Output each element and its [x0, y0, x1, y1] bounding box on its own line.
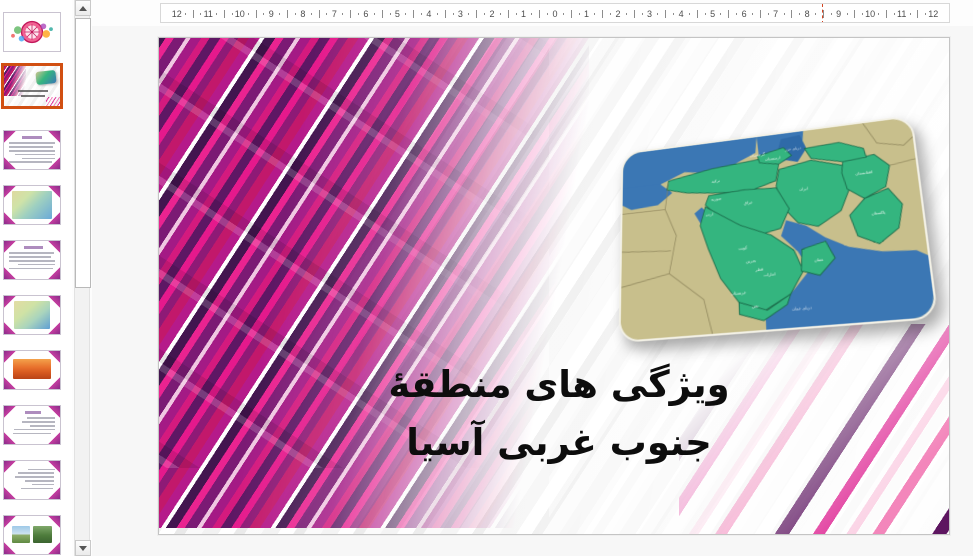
thumbnail-preview: [4, 13, 60, 51]
ruler-h-minor: [279, 13, 280, 15]
ruler-h-minor: [476, 10, 477, 18]
ruler-h-minor: [193, 10, 194, 18]
thumbnail-preview: [4, 296, 60, 334]
slide-thumbnail-10[interactable]: [3, 515, 61, 555]
ruler-h-tick-14: 2: [611, 4, 625, 23]
svg-text:اردن: اردن: [705, 211, 713, 217]
ruler-h-minor: [760, 10, 761, 18]
ruler-h-minor: [626, 13, 627, 15]
thumbnail-preview: [4, 66, 60, 106]
ruler-h-marker: [822, 4, 823, 23]
ruler-h-tick-7: 5: [390, 4, 404, 23]
ruler-h-tick-8: 4: [422, 4, 436, 23]
landscape-photo-thumbnail: [33, 526, 51, 543]
ruler-h-minor: [256, 10, 257, 18]
title-line-2: جنوب غربی آسیا: [279, 414, 839, 472]
slide-thumbnail-5[interactable]: [3, 240, 61, 280]
ruler-h-minor: [728, 10, 729, 18]
scroll-up-icon: [79, 6, 87, 11]
thumbnail-preview: [4, 461, 60, 499]
slide-thumbnail-8[interactable]: [3, 405, 61, 445]
thumbnail-preview: [4, 131, 60, 169]
ruler-h-minor: [216, 13, 217, 15]
ruler-h-tick-11: 1: [516, 4, 530, 23]
ruler-h-tick-23: 11: [895, 4, 909, 23]
ruler-h-minor: [382, 10, 383, 18]
ruler-h-minor: [413, 10, 414, 18]
ruler-h-tick-4: 8: [296, 4, 310, 23]
slide-thumbnail-6[interactable]: [3, 295, 61, 335]
slide-editing-surface[interactable]: ترکیه گرجستان ارمنستان ایران افغانستان پ…: [158, 37, 950, 535]
svg-text:ترکیه: ترکیه: [712, 178, 720, 184]
ruler-h-tick-9: 3: [453, 4, 467, 23]
ruler-h-minor: [689, 13, 690, 15]
ruler-h-minor: [224, 10, 225, 18]
ruler-h-minor: [657, 13, 658, 15]
ruler-h-tick-20: 8: [800, 4, 814, 23]
map-graphic: ترکیه گرجستان ارمنستان ایران افغانستان پ…: [621, 117, 937, 341]
ruler-h-tick-22: 10: [863, 4, 877, 23]
scroll-down-button[interactable]: [75, 540, 91, 556]
svg-text:ایران: ایران: [799, 186, 808, 192]
slide-thumbnail-1[interactable]: [3, 12, 61, 52]
scrollbar-thumb[interactable]: [75, 18, 91, 288]
ruler-h-minor: [500, 13, 501, 15]
scroll-up-button[interactable]: [75, 0, 91, 16]
ruler-h-minor: [563, 13, 564, 15]
svg-text:عمان: عمان: [814, 257, 824, 263]
horizontal-ruler[interactable]: 1211109876543210123456789101112: [160, 3, 950, 23]
slide-thumbnail-2[interactable]: [1, 63, 63, 109]
ruler-h-minor: [594, 13, 595, 15]
desert-photo-thumbnail: [13, 359, 51, 379]
ruler-h-minor: [910, 13, 911, 15]
thumbnail-preview: [4, 186, 60, 224]
ruler-h-minor: [287, 10, 288, 18]
ruler-h-minor: [311, 13, 312, 15]
ruler-h-minor: [185, 13, 186, 15]
ruler-h-tick-0: 12: [170, 4, 184, 23]
ruler-h-minor: [634, 10, 635, 18]
ruler-h-minor: [886, 10, 887, 18]
ruler-h-minor: [437, 13, 438, 15]
ruler-h-tick-5: 7: [327, 4, 341, 23]
ruler-h-minor: [445, 10, 446, 18]
ruler-h-tick-18: 6: [737, 4, 751, 23]
ruler-h-minor: [405, 13, 406, 15]
ruler-h-tick-16: 4: [674, 4, 688, 23]
ruler-h-tick-21: 9: [832, 4, 846, 23]
ruler-h-minor: [917, 10, 918, 18]
slide-canvas-area[interactable]: ترکیه گرجستان ارمنستان ایران افغانستان پ…: [92, 26, 973, 556]
presentation-editor-window: 1211109876543210123456789101112 76543210…: [0, 0, 973, 556]
ruler-h-minor: [350, 10, 351, 18]
ruler-h-minor: [248, 13, 249, 15]
ruler-h-minor: [571, 10, 572, 18]
ruler-h-minor: [847, 13, 848, 15]
ruler-h-tick-17: 5: [706, 4, 720, 23]
ornament-circle-icon: [4, 13, 60, 51]
ruler-h-tick-13: 1: [580, 4, 594, 23]
map-thumbnail-image: [12, 191, 52, 220]
ruler-h-tick-19: 7: [769, 4, 783, 23]
ruler-h-minor: [823, 10, 824, 18]
thumbnail-preview: [4, 351, 60, 389]
ruler-h-minor: [878, 13, 879, 15]
thumbnail-pane-scrollbar[interactable]: [74, 0, 90, 556]
svg-text:قطر: قطر: [754, 266, 763, 272]
ruler-h-minor: [697, 10, 698, 18]
ruler-h-minor: [342, 13, 343, 15]
thumbnail-preview: [4, 241, 60, 279]
ruler-h-minor: [752, 13, 753, 15]
ruler-h-minor: [539, 10, 540, 18]
ruler-h-minor: [508, 10, 509, 18]
ruler-h-minor: [602, 10, 603, 18]
thumbnail-preview: [4, 406, 60, 444]
svg-text:یمن: یمن: [752, 302, 759, 308]
ruler-h-minor: [791, 10, 792, 18]
ruler-h-tick-12: 0: [548, 4, 562, 23]
svg-text:امارات: امارات: [763, 271, 775, 277]
slide-thumbnail-pane[interactable]: [0, 0, 72, 556]
ruler-h-minor: [319, 10, 320, 18]
ruler-h-tick-24: 12: [926, 4, 940, 23]
scroll-down-icon: [79, 546, 87, 551]
title-line-1: ویژگی های منطقهٔ: [279, 356, 839, 414]
svg-text:عراق: عراق: [744, 199, 753, 205]
map-thumbnail-image: [14, 301, 51, 329]
svg-text:کویت: کویت: [738, 245, 747, 251]
slide-thumbnail-3[interactable]: [3, 130, 61, 170]
svg-text:بحرین: بحرین: [746, 257, 757, 263]
map-card: ترکیه گرجستان ارمنستان ایران افغانستان پ…: [619, 115, 939, 343]
ruler-h-tick-6: 6: [359, 4, 373, 23]
ruler-h-tick-2: 10: [233, 4, 247, 23]
landscape-photo-thumbnail: [12, 526, 30, 543]
slide-thumbnail-7[interactable]: [3, 350, 61, 390]
ruler-h-minor: [720, 13, 721, 15]
slide-thumbnail-9[interactable]: [3, 460, 61, 500]
ruler-h-minor: [468, 13, 469, 15]
ruler-h-minor: [531, 13, 532, 15]
ruler-h-minor: [815, 13, 816, 15]
ruler-h-tick-1: 11: [201, 4, 215, 23]
ruler-h-minor: [665, 10, 666, 18]
southwest-asia-map-image[interactable]: ترکیه گرجستان ارمنستان ایران افغانستان پ…: [619, 115, 939, 343]
ruler-h-minor: [374, 13, 375, 15]
slide-title-text-box[interactable]: ویژگی های منطقهٔ جنوب غربی آسیا: [279, 356, 839, 473]
ruler-h-tick-10: 2: [485, 4, 499, 23]
ruler-h-minor: [784, 13, 785, 15]
slide-thumbnail-4[interactable]: [3, 185, 61, 225]
ruler-h-tick-3: 9: [264, 4, 278, 23]
ruler-h-minor: [854, 10, 855, 18]
ruler-h-tick-15: 3: [643, 4, 657, 23]
thumbnail-preview: [4, 516, 60, 554]
